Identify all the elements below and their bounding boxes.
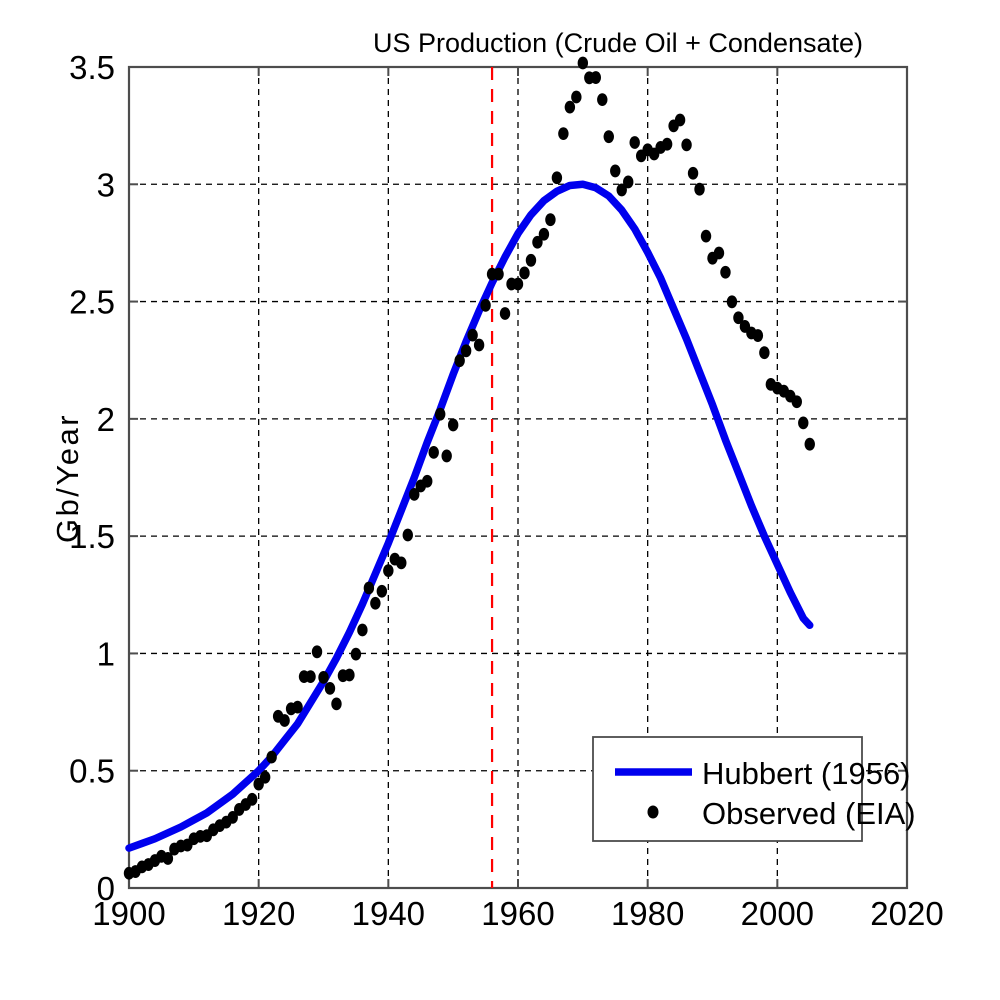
- observed-point: [597, 93, 607, 106]
- observed-point: [552, 171, 562, 184]
- observed-point: [260, 771, 270, 784]
- chart-title: US Production (Crude Oil + Condensate): [373, 28, 863, 58]
- observed-point: [474, 339, 484, 352]
- y-tick-label-1.5: 1.5: [69, 518, 115, 555]
- observed-point: [318, 671, 328, 684]
- x-tick-label-2020: 2020: [870, 895, 943, 932]
- y-tick-label-3: 3: [97, 166, 115, 203]
- observed-point: [539, 228, 549, 241]
- observed-point: [805, 438, 815, 451]
- observed-point: [675, 114, 685, 127]
- observed-point: [714, 247, 724, 260]
- observed-point: [558, 127, 568, 140]
- observed-point: [454, 354, 464, 367]
- observed-point: [500, 307, 510, 320]
- observed-point: [422, 475, 432, 488]
- observed-point: [435, 408, 445, 421]
- x-tick-label-1980: 1980: [611, 895, 684, 932]
- observed-point: [493, 268, 503, 281]
- observed-point: [403, 529, 413, 542]
- x-tick-label-1920: 1920: [222, 895, 295, 932]
- observed-point: [325, 682, 335, 695]
- observed-point: [519, 267, 529, 280]
- observed-point: [571, 91, 581, 104]
- observed-point: [630, 136, 640, 149]
- observed-point: [383, 564, 393, 577]
- observed-point: [351, 648, 361, 661]
- observed-point: [526, 254, 536, 267]
- x-tick-labels: 1900192019401960198020002020: [92, 895, 943, 932]
- observed-point: [364, 582, 374, 595]
- observed-point: [694, 183, 704, 196]
- observed-point: [467, 329, 477, 342]
- observed-point: [292, 701, 302, 714]
- observed-point: [623, 176, 633, 189]
- production-chart: US Production (Crude Oil + Condensate) G…: [0, 0, 1000, 1000]
- x-tick-label-1960: 1960: [481, 895, 554, 932]
- observed-point: [681, 138, 691, 151]
- observed-point: [312, 645, 322, 658]
- legend-swatch-observed: [648, 806, 659, 819]
- observed-point: [798, 416, 808, 429]
- observed-point: [792, 395, 802, 408]
- observed-point: [720, 266, 730, 279]
- observed-point: [688, 167, 698, 180]
- x-tick-label-2000: 2000: [741, 895, 814, 932]
- y-tick-label-0: 0: [97, 870, 115, 907]
- observed-point: [610, 165, 620, 178]
- x-tick-label-1940: 1940: [352, 895, 425, 932]
- observed-point: [727, 295, 737, 308]
- observed-point: [266, 751, 276, 764]
- y-tick-label-2.5: 2.5: [69, 284, 115, 321]
- observed-point: [759, 346, 769, 359]
- observed-point: [662, 138, 672, 151]
- observed-point: [513, 278, 523, 291]
- legend-label-hubbert: Hubbert (1956): [702, 756, 911, 791]
- figure-canvas: US Production (Crude Oil + Condensate) G…: [0, 0, 1000, 1000]
- observed-point: [357, 624, 367, 637]
- observed-point: [591, 71, 601, 84]
- y-tick-label-3.5: 3.5: [69, 49, 115, 86]
- observed-point: [448, 419, 458, 432]
- observed-point: [441, 450, 451, 463]
- y-tick-label-1: 1: [97, 635, 115, 672]
- observed-point: [370, 597, 380, 610]
- observed-point: [753, 329, 763, 342]
- observed-point: [480, 299, 490, 312]
- observed-point: [247, 793, 257, 806]
- observed-point: [396, 556, 406, 569]
- y-tick-label-0.5: 0.5: [69, 753, 115, 790]
- legend-label-observed: Observed (EIA): [702, 796, 916, 831]
- observed-point: [377, 585, 387, 598]
- observed-point: [604, 130, 614, 143]
- observed-point: [578, 57, 588, 70]
- observed-point: [461, 344, 471, 357]
- observed-point: [545, 213, 555, 226]
- observed-point: [279, 714, 289, 727]
- observed-point: [429, 446, 439, 459]
- observed-point: [344, 669, 354, 682]
- observed-point: [565, 101, 575, 114]
- y-tick-label-2: 2: [97, 401, 115, 438]
- observed-point: [305, 670, 315, 683]
- observed-point: [331, 697, 341, 710]
- observed-point: [701, 230, 711, 243]
